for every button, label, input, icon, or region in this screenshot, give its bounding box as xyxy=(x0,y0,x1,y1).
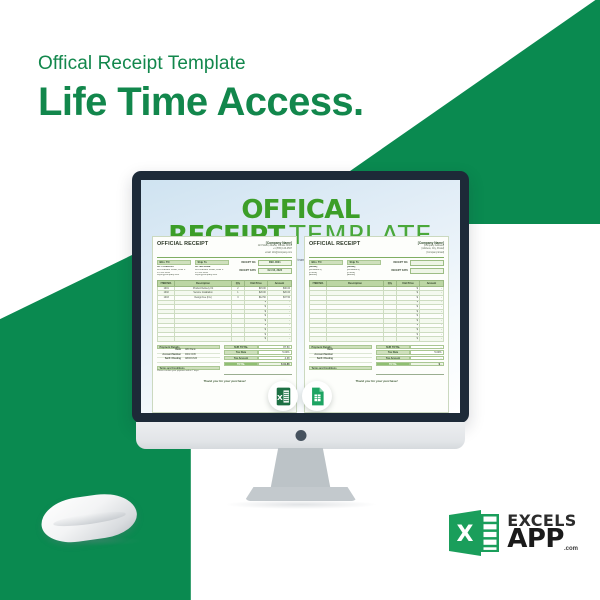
receipt-signature-line[interactable] xyxy=(376,370,444,375)
brand-logo[interactable]: X EXCELS APP .com xyxy=(447,508,578,558)
monitor-logo-dot xyxy=(295,430,306,441)
receipt-items-table: ITEM NO.DescriptionQtyUnit PriceAmount$-… xyxy=(309,280,444,342)
receipt-total-label: SUB TOTAL xyxy=(224,345,258,349)
receipt-meta-value[interactable] xyxy=(410,260,445,266)
receipt-meta-value[interactable]: REC-0001 xyxy=(258,260,293,266)
receipt-meta-label: RECEIPT DATE xyxy=(236,270,256,272)
receipt-item-row-empty[interactable]: $- xyxy=(310,337,444,342)
receipt-total-label: Tax Amount xyxy=(376,356,410,360)
receipt-payment-label: Account Number xyxy=(309,354,335,357)
receipt-bill-to-row: [EMAIL] xyxy=(309,274,343,277)
receipt-ship-to: Ship To[NAME][ADDRESS][Phone][EMAIL] xyxy=(347,260,381,277)
receipt-parties: BILL TOBUY COMPANY123 Brandon Street, Fl… xyxy=(157,260,292,277)
excel-file-badge[interactable]: X xyxy=(268,381,298,411)
receipt-item-row-empty[interactable]: $- xyxy=(158,337,292,342)
receipt-bottom: Payment DetailsBankABC BankAccount Numbe… xyxy=(157,345,292,375)
receipt-total-value: - xyxy=(410,345,444,349)
receipt-meta-value[interactable] xyxy=(410,268,445,274)
logo-line-com: .com xyxy=(564,547,578,553)
poster-canvas: Offical Receipt Template Life Time Acces… xyxy=(0,0,600,600)
receipt-meta: RECEIPT NO.REC-0001RECEIPT DATEOct 04, 2… xyxy=(236,260,292,277)
receipt-total-label: SUB TOTAL xyxy=(376,345,410,349)
logo-line-app: APP xyxy=(507,528,564,552)
receipt-bill-to-bar: BILL TO xyxy=(309,260,343,264)
receipt-company-block: [Company Name][Company Address][Address,… xyxy=(418,241,444,255)
receipt-total-label: Tax Amount xyxy=(224,356,258,360)
excels-app-logo-mark: X xyxy=(447,508,501,558)
receipt-payment-value xyxy=(335,349,372,352)
receipt-total-row: SUB TOTAL- xyxy=(376,345,444,349)
receipt-items-table: ITEM NO.DescriptionQtyUnit PriceAmount10… xyxy=(157,280,292,342)
receipt-totals-block: SUB TOTAL87.50Tax Rate5.00%Tax Amount4.3… xyxy=(224,345,292,375)
google-sheets-icon xyxy=(309,387,326,406)
receipt-meta-row: RECEIPT DATE xyxy=(388,268,444,274)
receipt-total-value: $ 91.88 xyxy=(258,362,292,366)
receipt-payment-block: Payment DetailsBankAccount NumberSwift /… xyxy=(309,345,372,370)
receipt-ship-to: Ship ToBUYER NAME123 Brandon Street, Flo… xyxy=(195,260,229,277)
receipt-notes-line: Please confirm your payment within 7 day… xyxy=(157,370,220,373)
receipt-meta-label: RECEIPT DATE xyxy=(388,270,408,272)
monitor-screen[interactable]: OFFICAL RECEIPTTEMPLATE Document confirm… xyxy=(141,180,460,413)
receipt-payment-value: 0001 0045 xyxy=(183,354,220,357)
receipt-total-row: Tax Rate5.00% xyxy=(376,350,444,354)
excel-icon: X xyxy=(275,387,292,406)
receipt-total-row: TOTAL$ - xyxy=(376,362,444,366)
receipt-meta-row: RECEIPT NO.REC-0001 xyxy=(236,260,292,266)
receipt-bill-to-row: buyer@company.com xyxy=(157,274,191,277)
headline-eyebrow: Offical Receipt Template xyxy=(38,52,458,76)
brand-logo-text: EXCELS APP .com xyxy=(507,514,578,553)
receipt-meta-label: RECEIPT NO. xyxy=(388,262,408,264)
receipt-payment-row: Swift / RoutingABCDUS33 xyxy=(157,358,220,362)
receipt-total-value: 4.38 xyxy=(258,356,292,360)
receipt-total-label: Tax Rate xyxy=(224,350,258,354)
receipt-total-row: Tax Amount- xyxy=(376,356,444,360)
receipt-totals-block: SUB TOTAL-Tax Rate5.00%Tax Amount-TOTAL$… xyxy=(376,345,444,375)
receipt-total-row: TOTAL$ 91.88 xyxy=(224,362,292,366)
svg-text:X: X xyxy=(276,392,282,401)
receipt-meta-label: RECEIPT NO. xyxy=(236,262,256,264)
receipt-meta: RECEIPT NO.RECEIPT DATE xyxy=(388,260,444,277)
receipt-total-row: Tax Rate5.00% xyxy=(224,350,292,354)
google-sheets-file-badge[interactable] xyxy=(302,381,332,411)
receipt-payment-value: ABCDUS33 xyxy=(183,358,220,361)
receipt-heading: OFFICIAL RECEIPT xyxy=(157,241,208,247)
receipt-total-label: TOTAL xyxy=(224,362,258,366)
receipt-payment-label: Swift / Routing xyxy=(157,358,183,361)
receipt-total-value: 87.50 xyxy=(258,345,292,349)
receipt-payment-block: Payment DetailsBankABC BankAccount Numbe… xyxy=(157,345,220,373)
receipt-total-value: - xyxy=(410,356,444,360)
receipt-header-rule xyxy=(309,257,444,258)
monitor-base-shadow xyxy=(226,500,376,509)
excel-logo-icon: X xyxy=(447,508,501,558)
receipt-ship-to-row: buyer@company.com xyxy=(195,274,229,277)
receipt-parties: BILL TO[NAME][ADDRESS][Phone][EMAIL]Ship… xyxy=(309,260,444,277)
receipt-bill-to: BILL TO[NAME][ADDRESS][Phone][EMAIL] xyxy=(309,260,343,277)
receipt-company-block: [Company Name]123 Street, Atlanta, Flori… xyxy=(258,241,292,255)
receipt-payment-value xyxy=(335,358,372,361)
receipt-meta-row: RECEIPT NO. xyxy=(388,260,444,266)
receipt-header-rule xyxy=(157,257,292,258)
receipt-total-value: $ - xyxy=(410,362,444,366)
receipt-payment-label: Bank xyxy=(309,349,335,352)
receipt-bill-to-bar: BILL TO xyxy=(157,260,191,264)
headline-title: Life Time Access. xyxy=(38,80,458,125)
receipt-signature xyxy=(376,370,444,375)
receipt-total-value: 5.00% xyxy=(410,350,444,354)
receipt-total-row: Tax Amount4.38 xyxy=(224,356,292,360)
receipt-total-label: TOTAL xyxy=(376,362,410,366)
receipt-bottom: Payment DetailsBankAccount NumberSwift /… xyxy=(309,345,444,375)
receipt-payment-label: Account Number xyxy=(157,354,183,357)
logo-letter-x: X xyxy=(457,522,474,547)
file-format-badges: X xyxy=(268,381,332,411)
receipt-bill-to: BILL TOBUY COMPANY123 Brandon Street, Fl… xyxy=(157,260,191,277)
receipt-meta-row: RECEIPT DATEOct 04, 2024 xyxy=(236,268,292,274)
receipt-total-label: Tax Rate xyxy=(376,350,410,354)
receipt-notes-bar: Terms and Conditions xyxy=(309,366,372,370)
computer-mouse xyxy=(41,496,137,540)
receipt-meta-value[interactable]: Oct 04, 2024 xyxy=(258,268,293,274)
receipt-ship-to-row: [EMAIL] xyxy=(347,274,381,277)
receipt-company-line: email: info@company.com xyxy=(258,252,292,255)
receipt-payment-row: Swift / Routing xyxy=(309,358,372,362)
receipt-signature xyxy=(224,370,292,375)
receipt-payment-value xyxy=(335,354,372,357)
receipt-company-line: [Company Email] xyxy=(418,252,444,255)
receipt-header: OFFICIAL RECEIPT[Company Name][Company A… xyxy=(309,241,444,255)
monitor-stand-base xyxy=(245,487,357,501)
receipt-total-value: 5.00% xyxy=(258,350,292,354)
headline-block: Offical Receipt Template Life Time Acces… xyxy=(38,52,458,125)
receipt-heading: OFFICIAL RECEIPT xyxy=(309,241,360,247)
receipt-signature-line[interactable] xyxy=(224,370,292,375)
receipt-payment-label: Swift / Routing xyxy=(309,358,335,361)
receipt-ship-to-bar: Ship To xyxy=(195,260,229,264)
receipt-payment-value: ABC Bank xyxy=(183,349,220,352)
receipt-header: OFFICIAL RECEIPT[Company Name]123 Street… xyxy=(157,241,292,255)
receipt-payment-label: Bank xyxy=(157,349,183,352)
receipt-total-row: SUB TOTAL87.50 xyxy=(224,345,292,349)
receipt-ship-to-bar: Ship To xyxy=(347,260,381,264)
